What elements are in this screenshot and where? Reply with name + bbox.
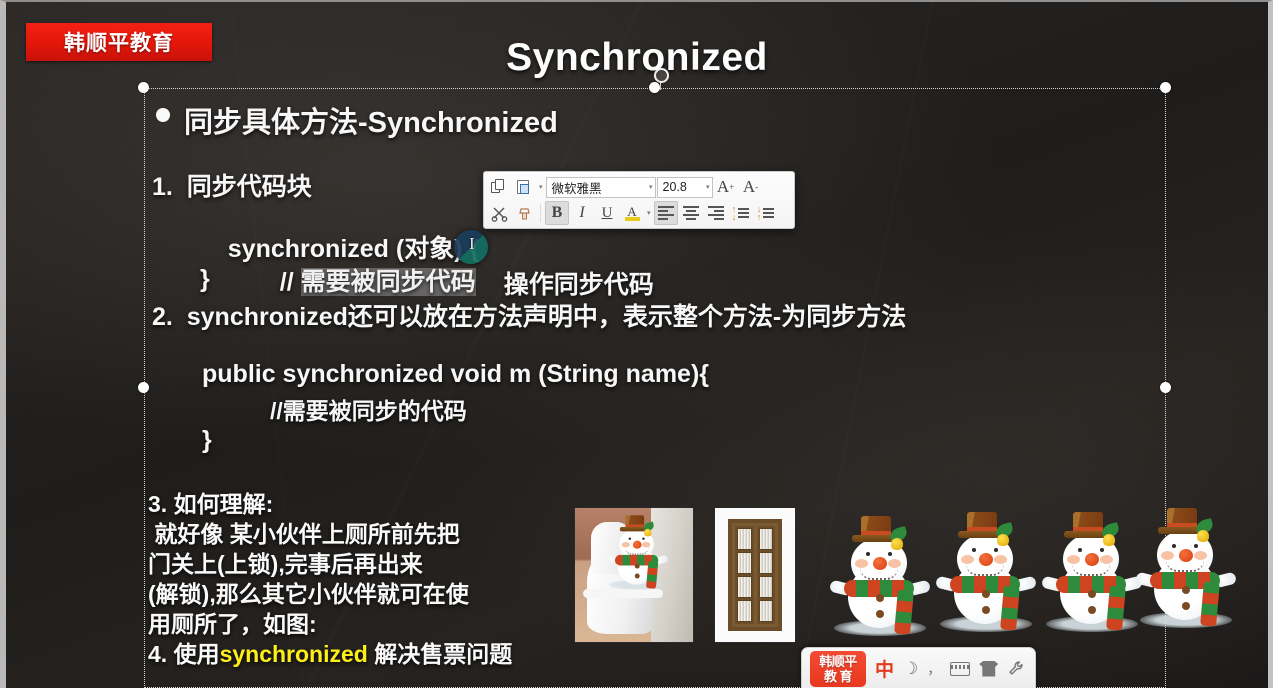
snowman-on-toilet: [605, 514, 669, 590]
keyboard-icon[interactable]: [950, 662, 970, 676]
settings-wrench-icon[interactable]: [1007, 660, 1024, 677]
mini-toolbar-row-bottom: B I U A ▾ ↑↓: [487, 200, 791, 226]
line-spacing-increase-icon: ↑↓: [732, 205, 750, 221]
moon-icon[interactable]: ☽: [903, 659, 918, 679]
font-name-caret-icon: ▾: [644, 183, 653, 191]
mini-format-toolbar[interactable]: ▾ 微软雅黑 ▾ 20.8 ▾ A+ A-: [483, 171, 795, 229]
ime-logo-line-1: 韩顺平: [819, 654, 857, 669]
comment-slashes: //: [280, 268, 301, 296]
scissors-icon[interactable]: [487, 201, 511, 225]
format-painter-icon[interactable]: [512, 201, 536, 225]
align-left-button[interactable]: [654, 201, 678, 225]
decrease-font-size-sup: -: [755, 182, 758, 192]
paragraph-line-5: 用厕所了，如图:: [148, 611, 317, 637]
increase-font-size-sup: +: [729, 182, 734, 192]
skin-icon[interactable]: [979, 661, 998, 677]
paragraph-line-6-suffix: 解决售票问题: [368, 641, 512, 667]
slide-line-4[interactable]: }: [200, 265, 210, 294]
font-size-select[interactable]: 20.8 ▾: [657, 177, 713, 198]
font-color-button[interactable]: A: [620, 201, 644, 225]
powerpoint-slide-editor: 韩顺平教育 Synchronized 同步具体方法-Synchronized 1…: [0, 0, 1273, 688]
ime-status-bar[interactable]: 韩顺平 教 育 中 ☽ ，: [801, 647, 1036, 688]
bullet-dot-icon: [156, 108, 170, 122]
selection-handle-middle-left[interactable]: [138, 382, 149, 393]
increase-font-size-icon[interactable]: A+: [714, 175, 738, 199]
toolbar-separator: [540, 204, 541, 222]
selected-text[interactable]: 需要被同步代码: [301, 268, 476, 296]
ime-brand-logo[interactable]: 韩顺平 教 育: [810, 651, 866, 687]
paragraph-keyword-highlight: synchronized: [220, 641, 368, 667]
slide-line-7[interactable]: //需要被同步的代码: [270, 392, 467, 426]
wooden-door-photo[interactable]: [714, 507, 796, 643]
paragraph-line-2: 就好像 某小伙伴上厕所前先把: [148, 521, 460, 547]
decrease-line-spacing-button[interactable]: ↓↑: [754, 201, 778, 225]
underline-button[interactable]: U: [595, 201, 619, 225]
align-right-button[interactable]: [704, 201, 728, 225]
snowman-1[interactable]: [828, 514, 932, 636]
selection-handle-top-center[interactable]: [649, 82, 660, 93]
decrease-font-size-letter: A: [743, 177, 755, 197]
text-cursor-icon: I: [469, 234, 475, 254]
decrease-font-size-icon[interactable]: A-: [739, 175, 763, 199]
door-leaf-left: [735, 526, 754, 624]
align-right-icon: [708, 204, 724, 222]
bold-button[interactable]: B: [545, 201, 569, 225]
slide-line-5[interactable]: 2. synchronized还可以放在方法声明中，表示整个方法-为同步方法: [152, 297, 906, 333]
align-center-button[interactable]: [679, 201, 703, 225]
paragraph-line-6-prefix: 4. 使用: [148, 641, 220, 667]
font-name-value: 微软雅黑: [552, 178, 644, 197]
font-color-letter: A: [627, 206, 636, 217]
slide-line-8[interactable]: }: [202, 426, 212, 455]
punctuation-icon[interactable]: ，: [927, 659, 941, 679]
toilet-lid: [583, 589, 663, 598]
selection-handle-middle-right[interactable]: [1160, 382, 1171, 393]
door-frame: [728, 519, 782, 631]
increase-line-spacing-button[interactable]: ↑↓: [729, 201, 753, 225]
selection-handle-top-right[interactable]: [1160, 82, 1171, 93]
rotate-handle-stem: [660, 82, 661, 90]
align-left-icon: [658, 204, 674, 222]
ime-logo-line-2: 教 育: [824, 669, 852, 684]
font-size-value: 20.8: [663, 180, 701, 194]
align-center-icon: [683, 204, 699, 222]
font-color-swatch: [625, 217, 640, 221]
snowman-3[interactable]: [1040, 510, 1144, 632]
paste-options-caret-icon[interactable]: ▾: [537, 183, 545, 191]
rotate-handle-icon[interactable]: [654, 68, 669, 83]
line-spacing-decrease-icon: ↓↑: [757, 205, 775, 221]
snowman-2[interactable]: [934, 510, 1038, 632]
increase-font-size-letter: A: [717, 177, 729, 197]
copy-icon[interactable]: [487, 175, 511, 199]
italic-button[interactable]: I: [570, 201, 594, 225]
font-name-select[interactable]: 微软雅黑 ▾: [546, 177, 656, 198]
selection-handle-top-left[interactable]: [138, 82, 149, 93]
paragraph-line-4: (解锁),那么其它小伙伴就可在使: [148, 581, 469, 607]
paragraph-line-3: 门关上(上锁),完事后再出来: [148, 551, 423, 577]
door-leaf-right: [757, 526, 776, 624]
slide-line-6[interactable]: public synchronized void m (String name)…: [202, 360, 709, 389]
slide-line-1[interactable]: 1. 同步代码块: [152, 167, 312, 203]
paste-icon[interactable]: [512, 175, 536, 199]
ime-language-mode-button[interactable]: 中: [875, 655, 894, 682]
toilet-photo[interactable]: [574, 507, 694, 643]
slide-paragraph[interactable]: 3. 如何理解: 就好像 某小伙伴上厕所前先把 门关上(上锁),完事后再出来 (…: [148, 489, 512, 669]
mini-toolbar-row-top: ▾ 微软雅黑 ▾ 20.8 ▾ A+ A-: [487, 174, 791, 200]
font-size-caret-icon: ▾: [701, 183, 710, 191]
snowman-4[interactable]: [1134, 506, 1238, 628]
paragraph-line-1: 3. 如何理解:: [148, 491, 273, 517]
slide-title[interactable]: Synchronized: [6, 36, 1268, 80]
slide-heading[interactable]: 同步具体方法-Synchronized: [184, 99, 558, 141]
font-color-caret-icon[interactable]: ▾: [645, 209, 653, 217]
